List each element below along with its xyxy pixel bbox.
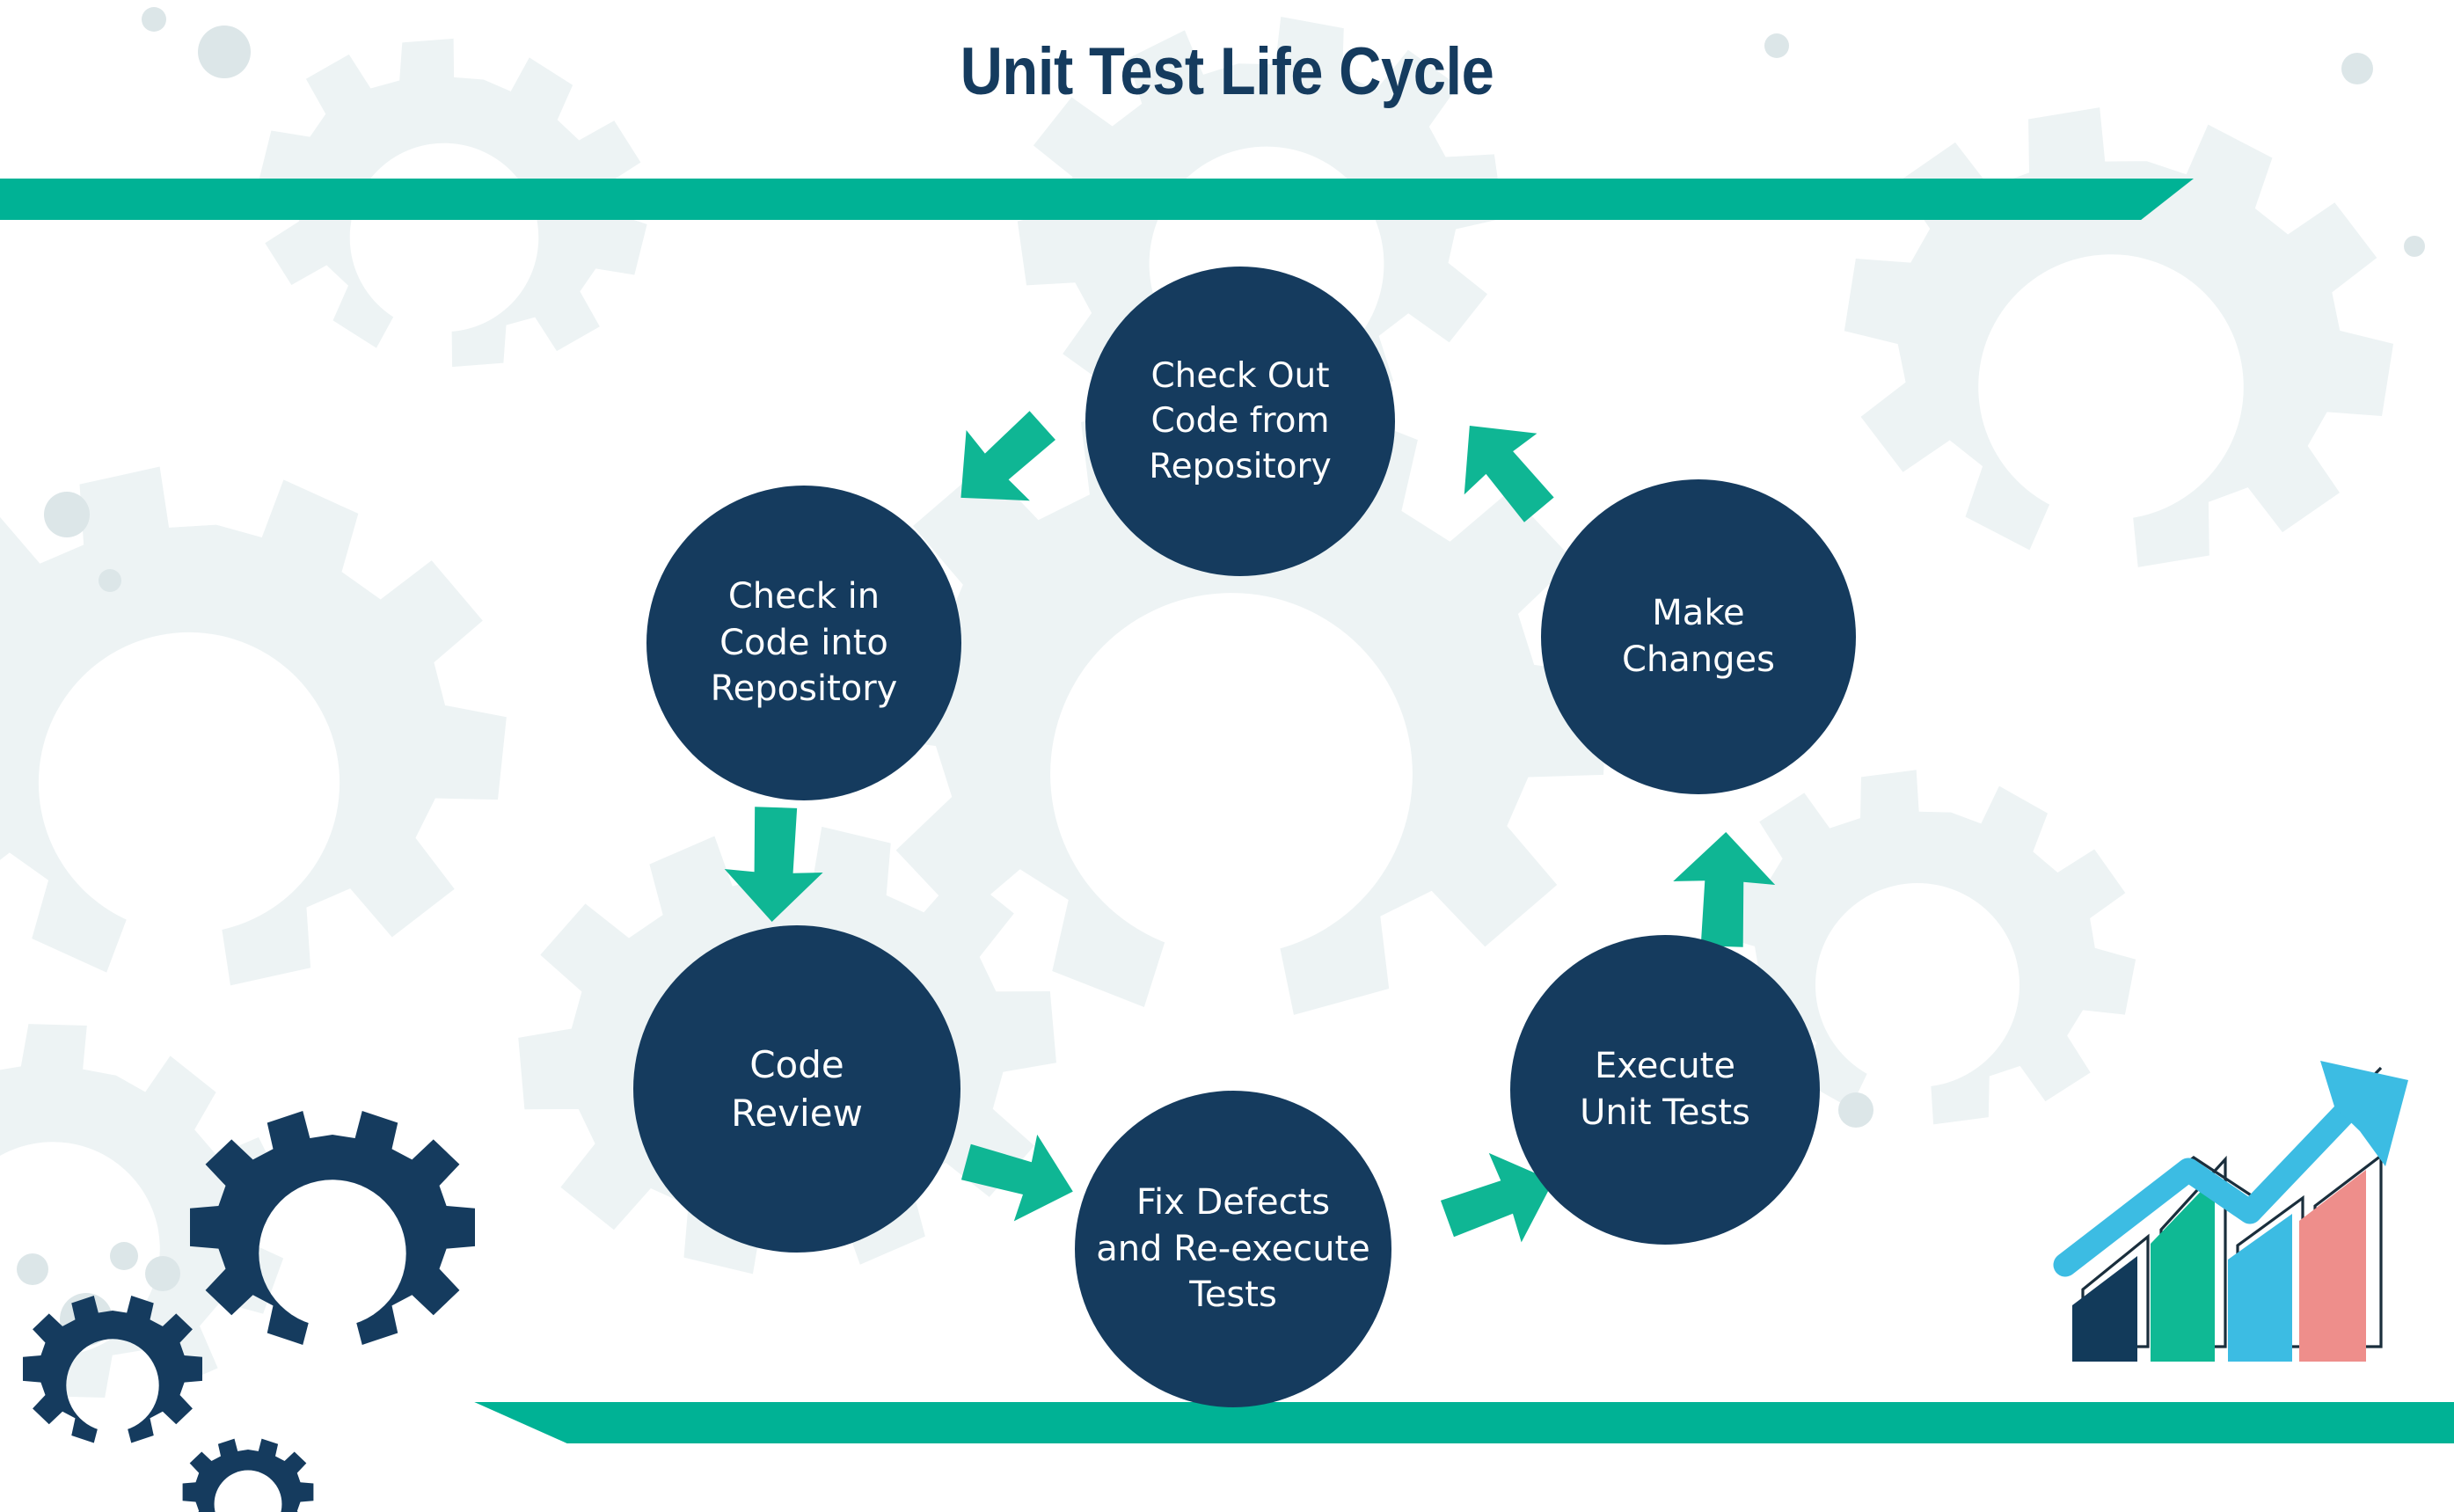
cycle-node-label: Fix Defects and Re-execute Tests: [1092, 1180, 1374, 1318]
dot-icon: [17, 1253, 48, 1285]
gear-small-icon: [183, 1439, 314, 1512]
top-accent-bar: [0, 179, 2194, 220]
cycle-node-label: Execute Unit Tests: [1576, 1043, 1754, 1136]
decorative-gears: [9, 1055, 501, 1512]
cycle-node-label: Make Changes: [1618, 590, 1778, 683]
slide-canvas: Unit Test Life Cycle Check Out C: [0, 0, 2454, 1512]
cycle-node-execute-unit-tests[interactable]: Execute Unit Tests: [1510, 935, 1820, 1245]
cycle-node-label: Check Out Code from Repository: [1145, 354, 1334, 489]
page-title: Unit Test Life Cycle: [147, 33, 2306, 110]
arrow-checkout-to-make: [1427, 403, 1585, 535]
cycle-node-fix-defects[interactable]: Fix Defects and Re-execute Tests: [1075, 1091, 1391, 1407]
chart-bar-4: [2299, 1170, 2366, 1362]
cycle-node-label: Check in Code into Repository: [707, 573, 902, 712]
arrow-fix-to-review: [948, 1115, 1089, 1238]
bottom-accent-bar: [438, 1402, 2454, 1443]
arrow-review-to-checkin: [695, 792, 853, 932]
chart-bar-3: [2228, 1214, 2292, 1362]
dot-icon: [110, 1242, 138, 1270]
cycle-node-label: Code Review: [727, 1041, 866, 1138]
cycle-node-check-in-code[interactable]: Check in Code into Repository: [646, 486, 961, 800]
cycle-node-check-out-code[interactable]: Check Out Code from Repository: [1085, 267, 1395, 576]
gear-large-icon: [190, 1111, 475, 1345]
arrow-checkin-to-checkout: [924, 394, 1082, 526]
growth-chart-illustration: [2025, 1026, 2421, 1377]
gear-medium-icon: [23, 1296, 202, 1443]
cycle-node-make-changes[interactable]: Make Changes: [1541, 479, 1856, 794]
cycle-node-code-review[interactable]: Code Review: [633, 925, 960, 1253]
